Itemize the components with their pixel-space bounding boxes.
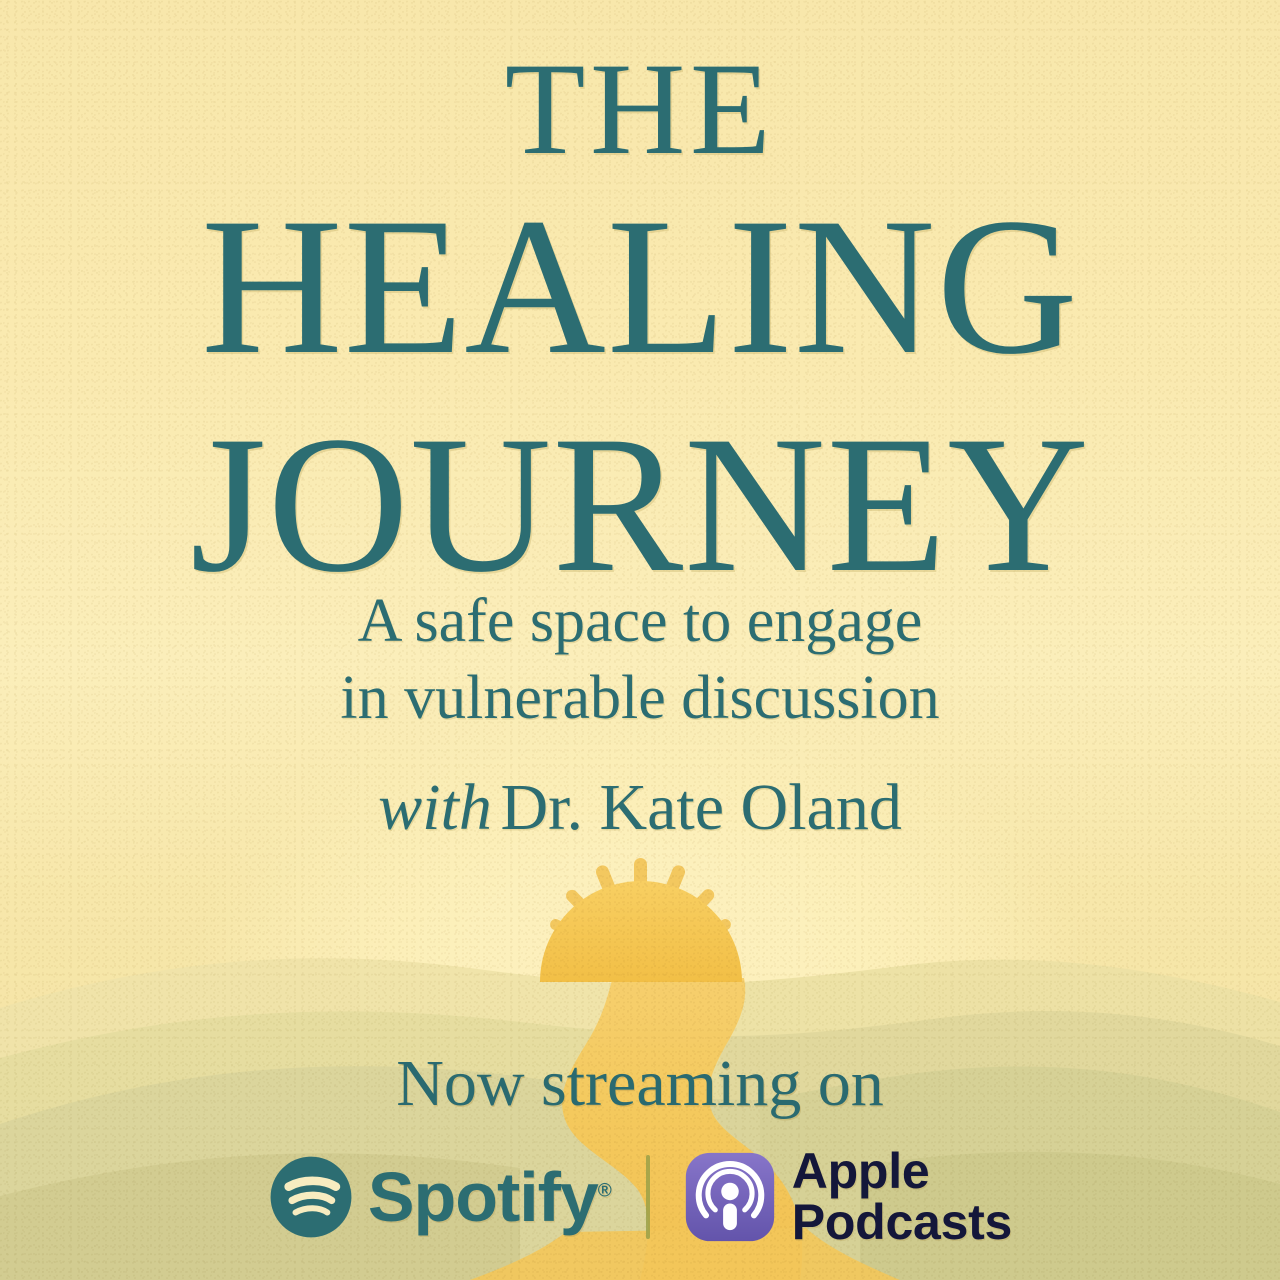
registered-trademark-icon: ® xyxy=(598,1181,612,1202)
title-line-2: HEALING xyxy=(0,191,1280,383)
spotify-badge[interactable]: Spotify® xyxy=(268,1154,612,1240)
platform-logo-row: Spotify® xyxy=(0,1146,1280,1248)
spotify-icon xyxy=(268,1154,354,1240)
title-line-3: JOURNEY xyxy=(0,409,1280,601)
apple-wordmark-line-2: Podcasts xyxy=(792,1197,1012,1248)
tagline-line-2: in vulnerable discussion xyxy=(0,660,1280,737)
byline-host-name: Dr. Kate Oland xyxy=(500,771,901,844)
title-line-1: THE xyxy=(0,44,1280,173)
tagline-line-1: A safe space to engage xyxy=(358,587,923,655)
apple-podcasts-badge[interactable]: Apple Podcasts xyxy=(684,1146,1012,1248)
apple-podcasts-wordmark: Apple Podcasts xyxy=(792,1146,1012,1248)
tagline: A safe space to engage in vulnerable dis… xyxy=(0,583,1280,737)
apple-podcasts-icon xyxy=(684,1151,776,1243)
byline-prefix: with xyxy=(378,771,500,844)
spotify-wordmark-text: Spotify xyxy=(368,1158,598,1236)
apple-wordmark-line-1: Apple xyxy=(792,1146,1012,1197)
show-title: THE HEALING JOURNEY xyxy=(0,44,1280,602)
podcast-cover-art: THE HEALING JOURNEY A safe space to enga… xyxy=(0,0,1280,1280)
streaming-label: Now streaming on xyxy=(0,1046,1280,1122)
host-byline: withDr. Kate Oland xyxy=(0,770,1280,846)
spotify-wordmark: Spotify® xyxy=(368,1162,612,1232)
logo-divider xyxy=(646,1155,650,1239)
